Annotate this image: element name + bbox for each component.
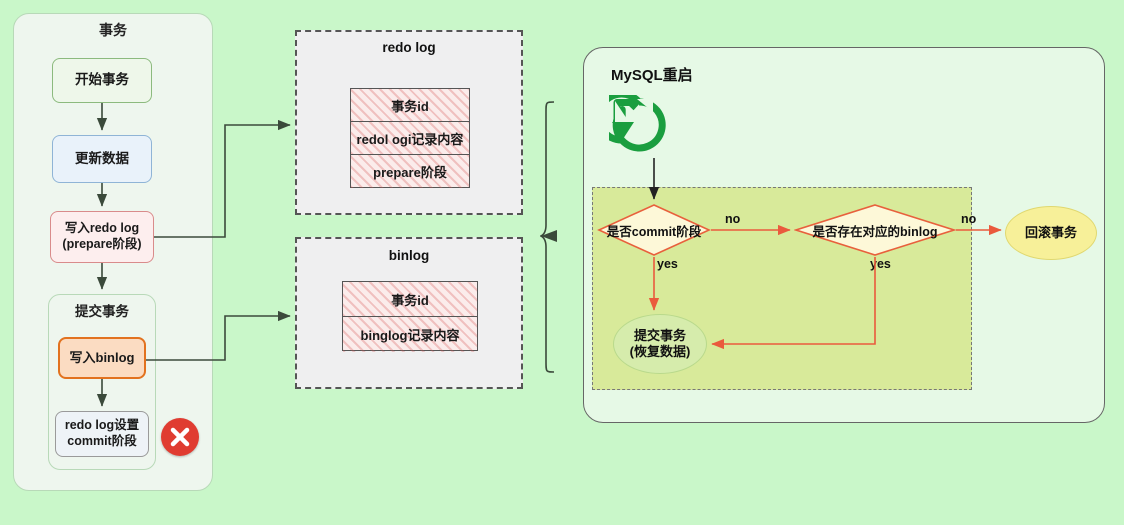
node-update-data[interactable]: 更新数据	[52, 135, 152, 183]
decision-is-commit-stage-label: 是否commit阶段	[597, 203, 711, 257]
edge-label-no-2: no	[961, 212, 976, 226]
redo-log-row-2: prepare阶段	[351, 155, 469, 188]
grouping-brace	[540, 100, 574, 376]
binlog-row-0: 事务id	[343, 282, 477, 317]
binlog-row-1: binglog记录内容	[343, 317, 477, 352]
binlog-title: binlog	[295, 248, 523, 263]
outcome-rollback-transaction[interactable]: 回滚事务	[1005, 206, 1097, 260]
node-begin-transaction[interactable]: 开始事务	[52, 58, 152, 103]
redo-log-record-table: 事务id redol ogi记录内容 prepare阶段	[350, 88, 470, 188]
redo-log-row-0: 事务id	[351, 89, 469, 122]
node-redo-log-set-commit-line1: redo log设置	[65, 418, 139, 434]
edge-label-yes-2: yes	[870, 257, 891, 271]
node-write-redo-log-line1: 写入redo log	[62, 221, 141, 237]
decision-binlog-exists-label: 是否存在对应的binlog	[794, 203, 956, 257]
node-write-binlog[interactable]: 写入binlog	[58, 337, 146, 379]
binlog-record-table: 事务id binglog记录内容	[342, 281, 478, 351]
redo-log-title: redo log	[295, 40, 523, 55]
transaction-group-title: 事务	[13, 20, 213, 40]
node-redo-log-set-commit[interactable]: redo log设置 commit阶段	[55, 411, 149, 457]
decision-is-commit-stage[interactable]: 是否commit阶段	[597, 203, 711, 257]
edge-label-no-1: no	[725, 212, 740, 226]
outcome-commit-transaction-line2: (恢复数据)	[630, 344, 691, 360]
node-redo-log-set-commit-line2: commit阶段	[65, 434, 139, 450]
diagram-canvas: 事务 开始事务 更新数据 写入redo log (prepare阶段) 提交事务…	[0, 0, 1124, 525]
decision-binlog-exists[interactable]: 是否存在对应的binlog	[794, 203, 956, 257]
commit-transaction-group-title: 提交事务	[48, 300, 156, 320]
failure-x-icon	[161, 418, 199, 456]
restart-circular-arrow-icon	[609, 95, 669, 155]
outcome-commit-transaction[interactable]: 提交事务 (恢复数据)	[613, 314, 707, 374]
node-write-redo-log[interactable]: 写入redo log (prepare阶段)	[50, 211, 154, 263]
mysql-restart-title: MySQL重启	[611, 64, 693, 85]
node-write-redo-log-line2: (prepare阶段)	[62, 237, 141, 253]
redo-log-row-1: redol ogi记录内容	[351, 122, 469, 155]
outcome-commit-transaction-line1: 提交事务	[630, 328, 691, 344]
edge-label-yes-1: yes	[657, 257, 678, 271]
